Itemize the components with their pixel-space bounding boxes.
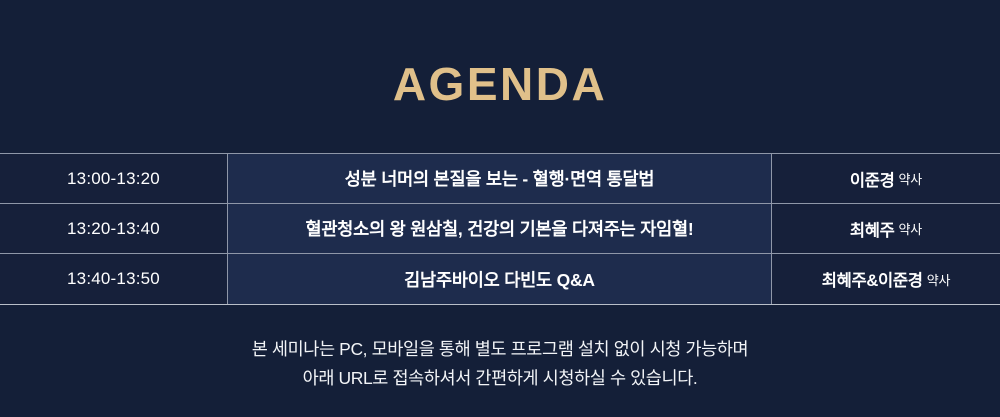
speaker-role: 약사 xyxy=(927,270,951,289)
title-section: AGENDA xyxy=(0,0,1000,153)
agenda-topic-cell: 김남주바이오 다빈도 Q&A xyxy=(228,254,772,304)
agenda-speaker-cell: 이준경 약사 xyxy=(772,154,1000,203)
footer-note: 본 세미나는 PC, 모바일을 통해 별도 프로그램 설치 없이 시청 가능하며… xyxy=(0,304,1000,417)
agenda-topic-cell: 혈관청소의 왕 원삼칠, 건강의 기본을 다져주는 자임혈! xyxy=(228,204,772,253)
table-row: 13:20-13:40 혈관청소의 왕 원삼칠, 건강의 기본을 다져주는 자임… xyxy=(0,204,1000,254)
table-row: 13:00-13:20 성분 너머의 본질을 보는 - 혈행·면역 통달법 이준… xyxy=(0,154,1000,204)
agenda-speaker-cell: 최혜주&이준경 약사 xyxy=(772,254,1000,304)
table-row: 13:40-13:50 김남주바이오 다빈도 Q&A 최혜주&이준경 약사 xyxy=(0,254,1000,304)
agenda-time-cell: 13:00-13:20 xyxy=(0,154,228,203)
footer-line-1: 본 세미나는 PC, 모바일을 통해 별도 프로그램 설치 없이 시청 가능하며 xyxy=(252,338,749,362)
page-title: AGENDA xyxy=(393,47,607,107)
agenda-time-cell: 13:40-13:50 xyxy=(0,254,228,304)
agenda-time-cell: 13:20-13:40 xyxy=(0,204,228,253)
speaker-name: 이준경 xyxy=(850,167,895,191)
speaker-role: 약사 xyxy=(899,219,923,238)
agenda-table: 13:00-13:20 성분 너머의 본질을 보는 - 혈행·면역 통달법 이준… xyxy=(0,153,1000,305)
speaker-role: 약사 xyxy=(899,169,923,188)
agenda-speaker-cell: 최혜주 약사 xyxy=(772,204,1000,253)
footer-line-2: 아래 URL로 접속하셔서 간편하게 시청하실 수 있습니다. xyxy=(303,367,698,391)
agenda-topic-cell: 성분 너머의 본질을 보는 - 혈행·면역 통달법 xyxy=(228,154,772,203)
speaker-name: 최혜주&이준경 xyxy=(822,267,923,291)
speaker-name: 최혜주 xyxy=(850,217,895,241)
